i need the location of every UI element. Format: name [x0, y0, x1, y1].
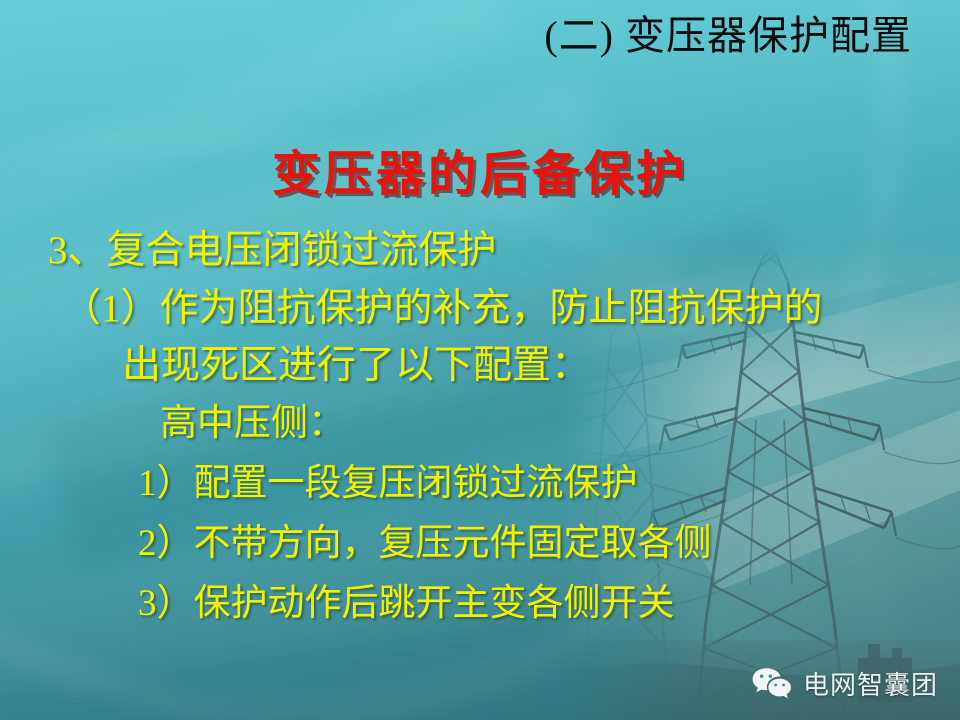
content-line-2: （1）作为阻抗保护的补充，防止阻抗保护的	[0, 280, 960, 337]
watermark-label: 电网智囊团	[803, 665, 938, 702]
content-line-6: 2）不带方向，复压元件固定取各侧	[0, 514, 960, 574]
content-line-4: 高中压侧：	[0, 394, 960, 454]
page-title: (二) 变压器保护配置	[0, 14, 912, 58]
wechat-icon	[751, 667, 793, 701]
section-title: 变压器的后备保护	[0, 134, 960, 204]
content-line-5: 1）配置一段复压闭锁过流保护	[0, 454, 960, 514]
content-line-3: 出现死区进行了以下配置：	[0, 337, 960, 394]
content-line-1: 3、复合电压闭锁过流保护	[0, 222, 960, 280]
wechat-icon-glyph	[751, 667, 793, 701]
content-line-7: 3）保护动作后跳开主变各侧开关	[0, 574, 960, 634]
content-body: 3、复合电压闭锁过流保护 （1）作为阻抗保护的补充，防止阻抗保护的 出现死区进行…	[0, 222, 960, 634]
slide-canvas: (二) 变压器保护配置 变压器的后备保护 3、复合电压闭锁过流保护 （1）作为阻…	[0, 0, 960, 720]
watermark: 电网智囊团	[751, 665, 938, 702]
